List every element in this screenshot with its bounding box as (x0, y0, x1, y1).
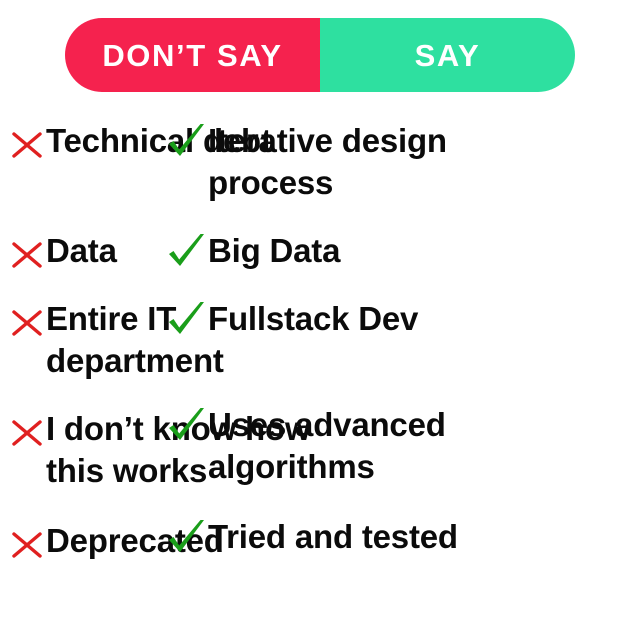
banner-say-label: SAY (415, 40, 481, 71)
check-icon (166, 404, 208, 448)
cross-icon (8, 410, 46, 454)
check-icon (166, 120, 208, 164)
list-item: Tried and tested (164, 516, 486, 560)
check-icon (166, 230, 208, 274)
banner-dont-say-half: DON’T SAY (65, 18, 320, 92)
list-item-label: Data (46, 230, 117, 272)
list-item: Big Data (164, 230, 486, 274)
cross-icon (8, 232, 46, 276)
cross-icon (8, 122, 46, 166)
banner-say-half: SAY (320, 18, 575, 92)
dont-say-column: Technical debt Data (0, 108, 164, 628)
banner-dont-say-label: DON’T SAY (102, 40, 282, 71)
list-item: Uses advanced algorithms (164, 404, 486, 487)
cross-icon (8, 300, 46, 344)
list-item-label: Uses advanced algorithms (208, 404, 486, 487)
list-item-label: Fullstack Dev (208, 298, 418, 340)
list-item: Iterative design process (164, 120, 486, 203)
list-item-label: Big Data (208, 230, 340, 272)
list-item-label: Tried and tested (208, 516, 458, 558)
list-item: Fullstack Dev (164, 298, 486, 342)
comparison-banner: DON’T SAY SAY (65, 18, 575, 92)
list-item-label: Iterative design process (208, 120, 486, 203)
say-column: Iterative design process Big Data Fullst… (164, 108, 640, 628)
check-icon (166, 298, 208, 342)
check-icon (166, 516, 208, 560)
comparison-columns: Technical debt Data (0, 108, 640, 628)
cross-icon (8, 522, 46, 566)
